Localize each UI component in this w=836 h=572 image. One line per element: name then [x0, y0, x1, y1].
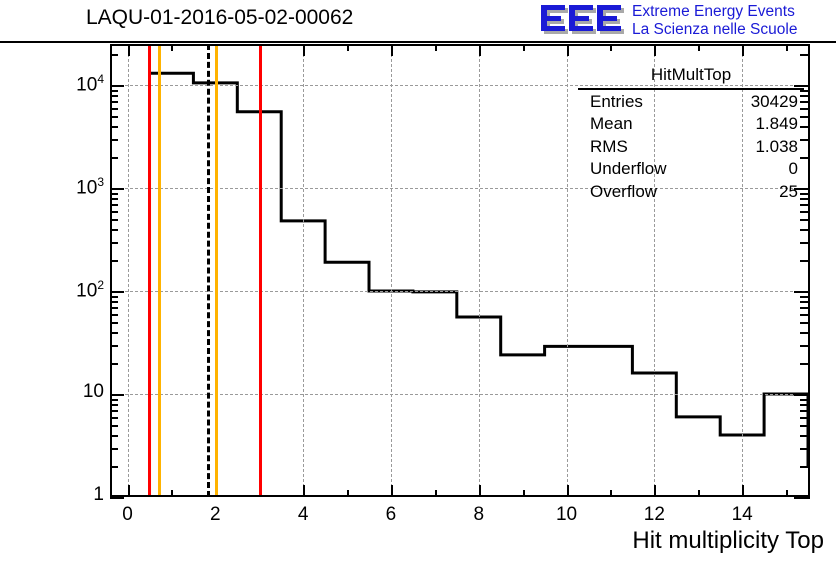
stats-row-value: 25 — [779, 181, 798, 204]
stats-row: Entries30429 — [578, 91, 804, 114]
stats-row-label: Entries — [590, 91, 643, 114]
eee-logo-line2: La Scienza nelle Scuole — [632, 21, 797, 39]
x-axis-label: 4 — [283, 504, 323, 526]
x-axis-label: 10 — [547, 504, 587, 526]
y-axis-tick-major — [110, 497, 124, 499]
y-axis-label: 10 — [83, 381, 104, 403]
stats-row-label: Overflow — [590, 181, 657, 204]
stats-row-value: 0 — [789, 158, 798, 181]
page-title: LAQU-01-2016-05-02-00062 — [86, 6, 353, 30]
stats-row-label: Mean — [590, 113, 633, 136]
x-axis-label: 12 — [634, 504, 674, 526]
stats-row-label: RMS — [590, 136, 628, 159]
stats-row: Underflow0 — [578, 158, 804, 181]
x-axis-label: 14 — [722, 504, 762, 526]
eee-logo-line1: Extreme Energy Events — [632, 3, 797, 21]
stats-row-label: Underflow — [590, 158, 667, 181]
y-axis-label: 102 — [76, 278, 104, 302]
stats-divider — [578, 88, 804, 90]
header-divider — [0, 41, 836, 43]
x-axis-title: Hit multiplicity Top — [632, 527, 824, 555]
y-axis-tick-major — [794, 497, 808, 499]
y-axis-label: 103 — [76, 175, 104, 199]
x-axis-label: 2 — [195, 504, 235, 526]
y-axis-label: 1 — [93, 484, 104, 506]
y-axis-right — [808, 44, 810, 499]
stats-box: HitMultTop Entries30429Mean1.849RMS1.038… — [578, 64, 804, 203]
stats-title: HitMultTop — [578, 64, 804, 88]
stats-row: Overflow25 — [578, 181, 804, 204]
x-axis-top — [110, 44, 808, 46]
stats-row-value: 30429 — [751, 91, 798, 114]
stats-row: RMS1.038 — [578, 136, 804, 159]
stats-row-value: 1.038 — [755, 136, 798, 159]
stats-row-value: 1.849 — [755, 113, 798, 136]
y-axis-label: 104 — [76, 72, 104, 96]
eee-logo: Extreme Energy Events La Scienza nelle S… — [540, 2, 836, 42]
eee-logo-text: Extreme Energy Events La Scienza nelle S… — [632, 3, 797, 39]
x-axis-label: 0 — [108, 504, 148, 526]
x-axis-label: 6 — [371, 504, 411, 526]
stats-row: Mean1.849 — [578, 113, 804, 136]
x-axis-label: 8 — [459, 504, 499, 526]
plot-canvas: LAQU-01-2016-05-02-00062 — [0, 0, 836, 572]
eee-logo-mark — [540, 4, 626, 38]
